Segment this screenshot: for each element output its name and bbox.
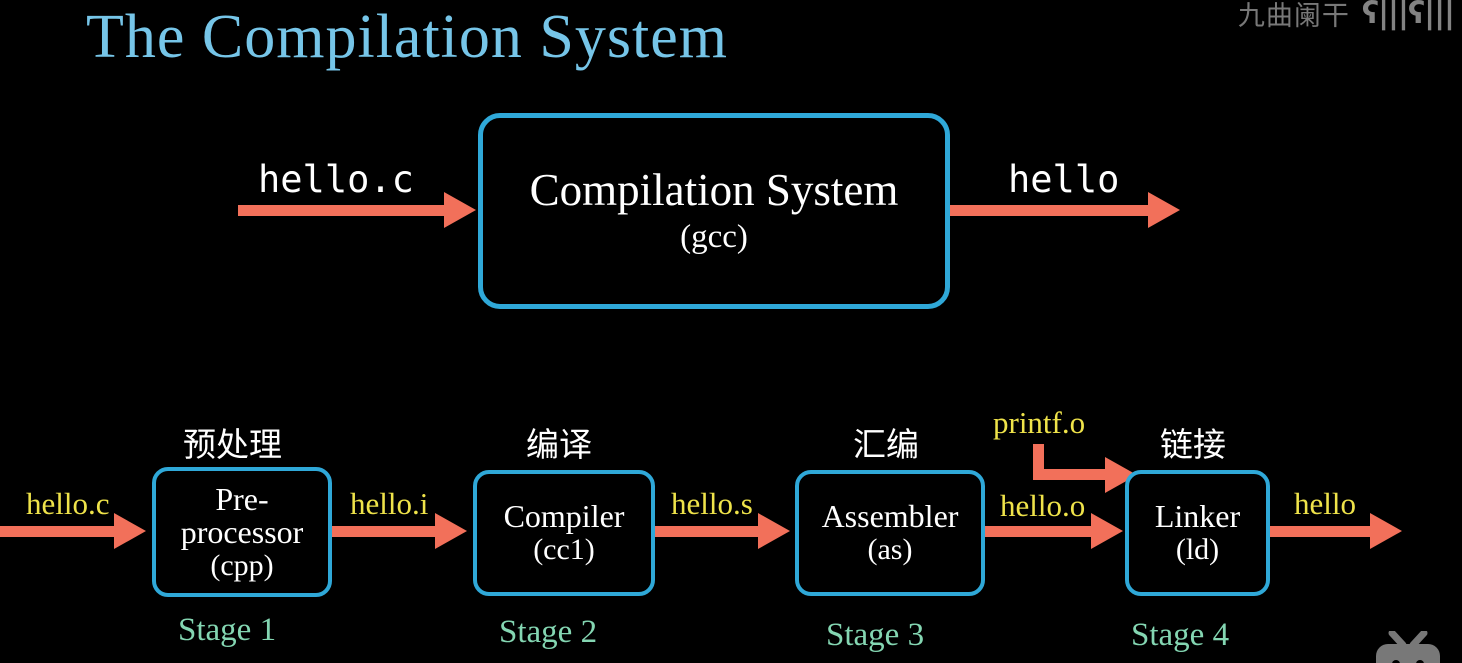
- pipeline-output-label: hello: [1294, 486, 1356, 522]
- stage-3-input-arrow-line: [655, 526, 762, 537]
- assembler-node: Assembler (as): [795, 470, 985, 596]
- pipeline-output-arrow-line: [1270, 526, 1374, 537]
- compiler-node: Compiler (cc1): [473, 470, 655, 596]
- overview-output-arrow-line: [950, 205, 1152, 216]
- stage-4-cn-label: 链接: [1160, 418, 1226, 466]
- compiler-subtitle: (cc1): [533, 534, 595, 566]
- stage-2-cn-label: 编译: [526, 418, 592, 466]
- linker-subtitle: (ld): [1176, 534, 1219, 566]
- slide-canvas: 九曲阑干 ʕ|||ʕ||| The Compilation System hel…: [0, 0, 1462, 663]
- stage-3-label: Stage 3: [826, 617, 924, 654]
- preprocessor-node: Pre- processor (cpp): [152, 467, 332, 597]
- stage-1-label: Stage 1: [178, 612, 276, 649]
- compilation-system-title: Compilation System: [530, 167, 899, 214]
- stage-1-cn-label: 预处理: [183, 418, 282, 466]
- linker-title: Linker: [1155, 500, 1240, 534]
- arrow-right-icon: [1091, 513, 1123, 549]
- watermark-channel-name: 九曲阑干: [1238, 0, 1350, 33]
- arrow-right-icon: [1370, 513, 1402, 549]
- stage-1-input-arrow-line: [0, 526, 118, 537]
- preprocessor-subtitle: (cpp): [210, 550, 273, 582]
- page-title: The Compilation System: [86, 5, 728, 70]
- stage-3-input-label: hello.s: [671, 486, 753, 522]
- arrow-right-icon: [114, 513, 146, 549]
- assembler-title: Assembler: [822, 500, 959, 534]
- printf-branch-horizontal-line: [1033, 469, 1111, 480]
- arrow-right-icon: [444, 192, 476, 228]
- assembler-subtitle: (as): [868, 534, 913, 566]
- overview-input-label: hello.c: [258, 158, 414, 201]
- bilibili-tv-icon: [1372, 631, 1444, 663]
- stage-3-cn-label: 汇编: [853, 418, 919, 466]
- arrow-right-icon: [1148, 192, 1180, 228]
- watermark: 九曲阑干 ʕ|||ʕ|||: [1238, 0, 1454, 33]
- linker-node: Linker (ld): [1125, 470, 1270, 596]
- arrow-right-icon: [435, 513, 467, 549]
- stage-4-input-label: hello.o: [1000, 488, 1085, 524]
- preprocessor-title-line2: processor: [181, 516, 304, 550]
- compilation-system-node: Compilation System (gcc): [478, 113, 950, 309]
- stage-4-extra-input-label: printf.o: [993, 405, 1085, 441]
- overview-output-label: hello: [1008, 158, 1119, 201]
- arrow-right-icon: [758, 513, 790, 549]
- preprocessor-title-line1: Pre-: [215, 483, 268, 517]
- stage-4-label: Stage 4: [1131, 617, 1229, 654]
- compiler-title: Compiler: [504, 500, 625, 534]
- stage-2-label: Stage 2: [499, 614, 597, 651]
- stage-4-input-arrow-line: [985, 526, 1095, 537]
- bilibili-logo-icon: ʕ|||ʕ|||: [1362, 0, 1454, 31]
- overview-input-arrow-line: [238, 205, 448, 216]
- stage-2-input-arrow-line: [332, 526, 439, 537]
- stage-1-input-label: hello.c: [26, 486, 110, 522]
- compilation-system-subtitle: (gcc): [680, 220, 748, 255]
- stage-2-input-label: hello.i: [350, 486, 428, 522]
